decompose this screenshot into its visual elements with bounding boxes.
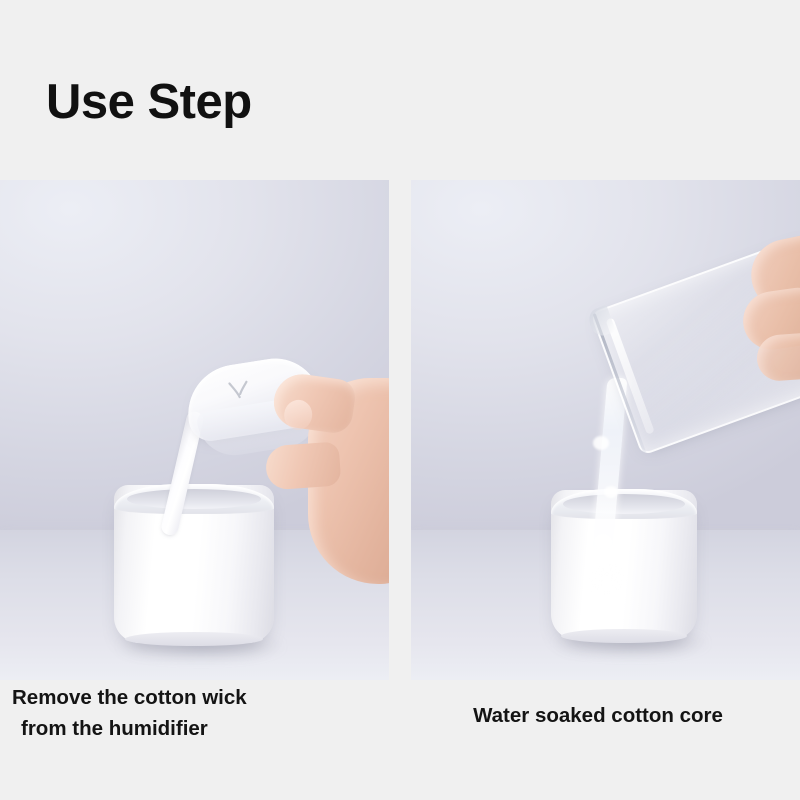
stream-ripple [593,436,609,450]
step-1-photo [0,180,389,680]
brand-emblem-icon [227,378,252,401]
step-panels [0,180,800,680]
thumb [271,371,358,436]
water-stream [591,378,627,618]
hand [266,360,389,620]
stream-ripple [594,534,612,549]
cup-foot [125,632,263,646]
index-finger [265,441,342,490]
cup-rim-inner [127,489,261,509]
step-2-photo [411,180,800,680]
water-splash [589,564,629,600]
page-title: Use Step [46,78,252,127]
caption-row: Remove the cotton wick from the humidifi… [0,682,800,772]
hand [733,238,800,388]
stream-ripple [604,486,618,498]
thumb-nail [282,398,314,432]
humidifier-base-cup [114,485,274,643]
cup-foot [561,629,687,643]
step-2-caption-line-1: Water soaked cotton core [473,700,723,731]
step-2-caption: Water soaked cotton core [0,700,800,731]
